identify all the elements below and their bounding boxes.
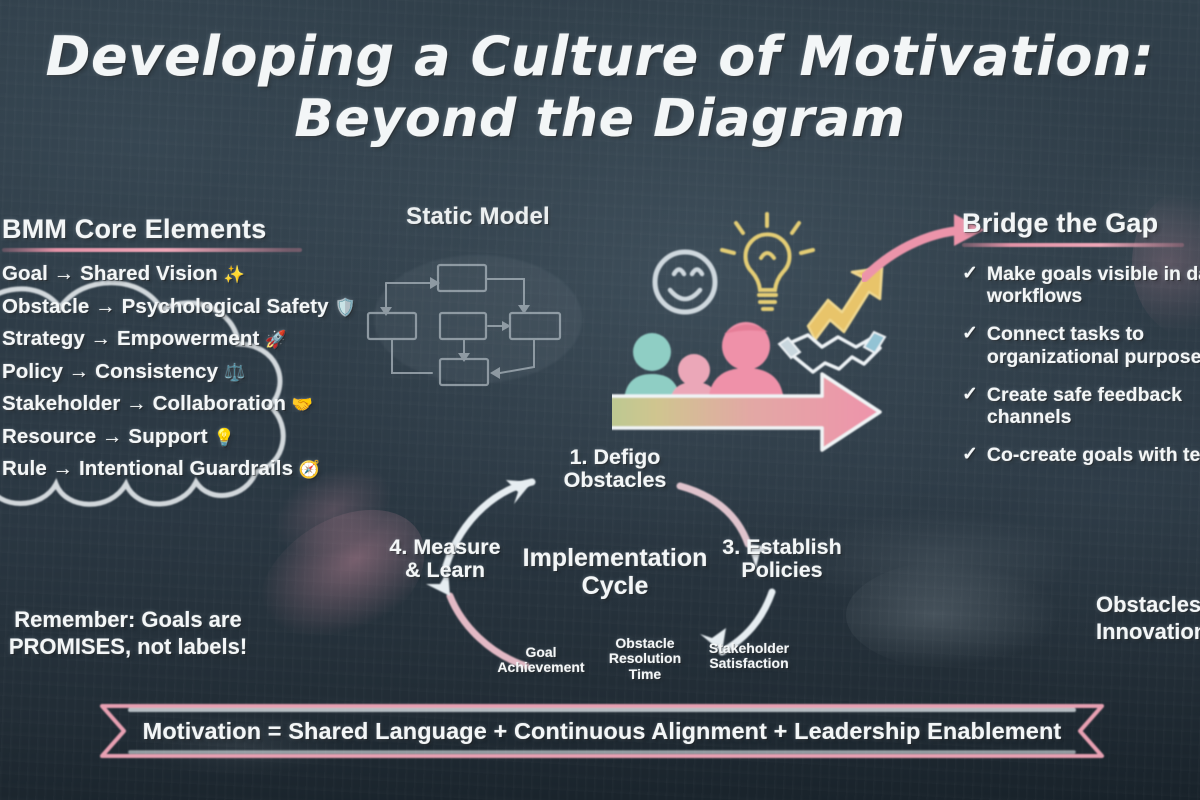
bmm-item-label: Stakeholder → Collaboration xyxy=(2,392,286,415)
bridge-heading: Bridge the Gap xyxy=(962,208,1200,239)
metric-line3: Time xyxy=(629,666,661,682)
page-title: Developing a Culture of Motivation: Beyo… xyxy=(0,26,1200,149)
cloud-heading: BMM Core Elements xyxy=(2,214,332,245)
bmm-item-stakeholder: Stakeholder → Collaboration 🤝 xyxy=(2,394,332,415)
cloud-heading-underline xyxy=(2,248,302,252)
check-icon: ✓ xyxy=(962,263,978,285)
cycle-node-1: 1. Defigo Obstacles xyxy=(530,446,700,492)
chalkboard-canvas: Developing a Culture of Motivation: Beyo… xyxy=(0,0,1200,800)
remember-line2: PROMISES, not labels! xyxy=(9,634,247,659)
smiley-face-icon xyxy=(655,252,715,312)
bridge-item-3: ✓ Create safe feedback channels xyxy=(962,384,1200,428)
cycle-center-label: Implementation Cycle xyxy=(490,544,740,600)
bridge-item-label: Make goals visible in daily workflows xyxy=(987,263,1200,307)
bridge-heading-underline xyxy=(962,243,1184,247)
ribbon-label: Motivation = Shared Language + Continuou… xyxy=(96,700,1108,762)
scales-icon: ⚖️ xyxy=(224,363,245,382)
bmm-item-label: Goal → Shared Vision xyxy=(2,262,218,285)
cycle-center-line2: Cycle xyxy=(582,572,649,600)
bridge-item-label: Connect tasks to organizational purpose xyxy=(987,323,1200,367)
handshake-icon xyxy=(779,332,885,372)
obstacle-note-line1: Obstacles xyxy=(1096,592,1200,617)
bridge-item-label: Co-create goals with teams xyxy=(987,444,1200,466)
bmm-item-rule: Rule → Intentional Guardrails 🧭 xyxy=(2,459,332,480)
rocket-icon: 🚀 xyxy=(265,330,286,349)
metric-line2: Resolution xyxy=(609,650,681,666)
metric-line2: Achievement xyxy=(497,659,584,675)
bmm-item-label: Strategy → Empowerment xyxy=(2,327,259,350)
lightbulb-icon: 💡 xyxy=(214,428,235,447)
remember-note: Remember: Goals are PROMISES, not labels… xyxy=(0,607,268,661)
static-model-label: Static Model xyxy=(352,203,604,231)
sparkles-icon: ✨ xyxy=(224,265,245,284)
bmm-item-label: Obstacle → Psychological Safety xyxy=(2,295,329,318)
implementation-cycle-group: 1. Defigo Obstacles 3. Establish Policie… xyxy=(350,440,880,702)
bmm-item-policy: Policy → Consistency ⚖️ xyxy=(2,362,332,383)
cycle-center-line1: Implementation xyxy=(523,544,708,572)
metric-goal-achievement: Goal Achievement xyxy=(486,645,596,676)
check-icon: ✓ xyxy=(962,323,978,345)
bmm-item-label: Rule → Intentional Guardrails xyxy=(2,457,293,480)
remember-line1: Remember: Goals are xyxy=(14,607,241,632)
bmm-item-label: Resource → Support xyxy=(2,425,208,448)
obstacle-note-line2: Innovation Sig xyxy=(1096,619,1200,644)
metric-line1: Goal xyxy=(525,644,556,660)
bridge-the-gap-panel: Bridge the Gap ✓ Make goals visible in d… xyxy=(962,208,1200,467)
obstacles-innovation-note: Obstacles Innovation Sig xyxy=(1096,592,1200,646)
metric-line2: Satisfaction xyxy=(709,655,788,671)
cycle-node-4-line1: 4. Measure xyxy=(389,535,500,559)
cycle-node-4-line2: & Learn xyxy=(405,558,485,582)
cycle-node-1-line2: Obstacles xyxy=(564,468,667,492)
people-group-icon xyxy=(624,322,784,406)
cycle-node-3-line2: Policies xyxy=(741,558,822,582)
bridge-item-4: ✓ Co-create goals with teams xyxy=(962,444,1200,466)
static-model-group: Static Model xyxy=(352,203,604,393)
title-line-2: Beyond the Diagram xyxy=(0,89,1200,149)
metric-line1: Stakeholder xyxy=(709,640,789,656)
bmm-item-obstacle: Obstacle → Psychological Safety 🛡️ xyxy=(2,297,332,318)
bmm-item-goal: Goal → Shared Vision ✨ xyxy=(2,264,332,285)
bmm-item-resource: Resource → Support 💡 xyxy=(2,427,332,448)
cycle-node-3-line1: 3. Establish xyxy=(722,535,842,559)
check-icon: ✓ xyxy=(962,384,978,406)
bmm-item-label: Policy → Consistency xyxy=(2,360,218,383)
bmm-item-strategy: Strategy → Empowerment 🚀 xyxy=(2,329,332,350)
metric-obstacle-resolution-time: Obstacle Resolution Time xyxy=(593,636,697,682)
title-line-1: Developing a Culture of Motivation: xyxy=(46,25,1155,88)
lightbulb-icon xyxy=(722,214,813,309)
metric-stakeholder-satisfaction: Stakeholder Satisfaction xyxy=(696,641,802,672)
bridge-item-2: ✓ Connect tasks to organizational purpos… xyxy=(962,323,1200,367)
bridge-item-label: Create safe feedback channels xyxy=(987,384,1200,428)
cycle-node-1-line1: 1. Defigo xyxy=(570,445,661,469)
bmm-core-elements-cloud: BMM Core Elements Goal → Shared Vision ✨… xyxy=(0,168,350,548)
summary-ribbon-banner: Motivation = Shared Language + Continuou… xyxy=(96,700,1108,762)
handshake-icon: 🤝 xyxy=(292,395,313,414)
static-model-flowchart-icon xyxy=(352,243,604,395)
bridge-item-1: ✓ Make goals visible in daily workflows xyxy=(962,263,1200,307)
metric-line1: Obstacle xyxy=(615,635,674,651)
compass-icon: 🧭 xyxy=(299,460,320,479)
check-icon: ✓ xyxy=(962,444,978,466)
